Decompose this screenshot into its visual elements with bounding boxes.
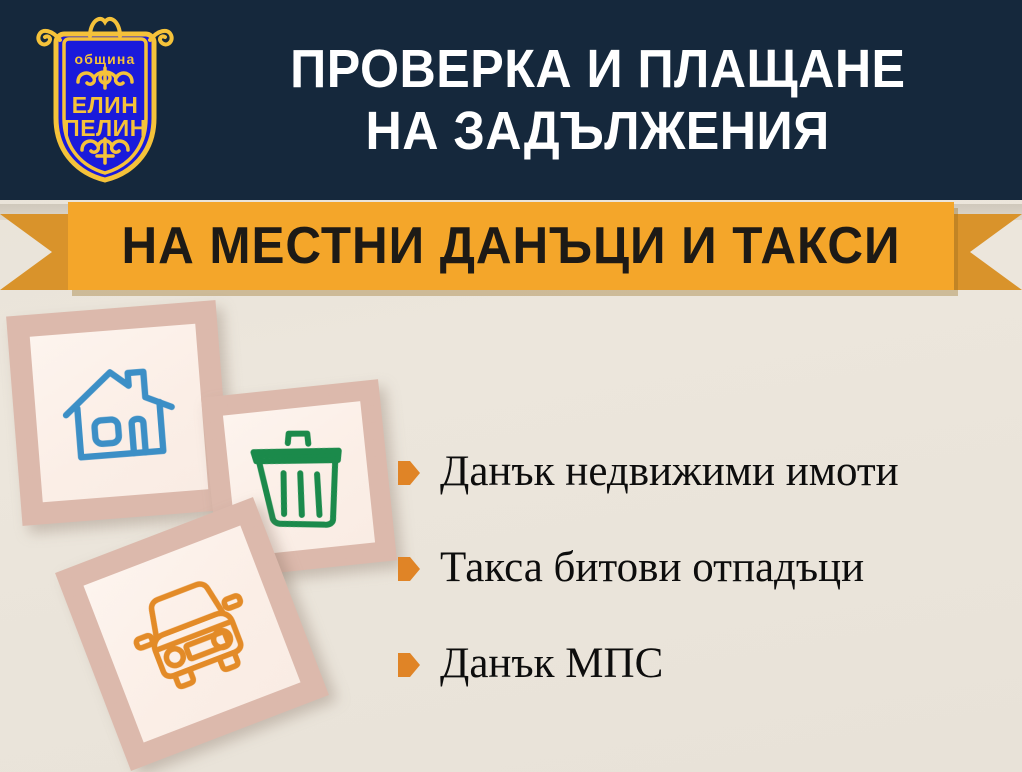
list-item[interactable]: Такса битови отпадъци — [398, 520, 1014, 616]
list-item-label: Данък МПС — [440, 640, 663, 688]
arrow-bullet-icon — [398, 461, 420, 485]
crest-svg: община ЕЛИН ПЕЛИН — [30, 8, 180, 188]
header-banner: община ЕЛИН ПЕЛИН ПРОВЕРКА И ПЛАЩАНЕ НА … — [0, 0, 1022, 200]
tax-types-list: Данък недвижими имоти Такса битови отпад… — [398, 424, 1014, 712]
arrow-bullet-icon — [398, 653, 420, 677]
stamp-collage — [0, 300, 430, 770]
subtitle-ribbon: НА МЕСТНИ ДАНЪЦИ И ТАКСИ — [0, 198, 1022, 306]
list-item[interactable]: Данък недвижими имоти — [398, 424, 1014, 520]
page-title-line-1: ПРОВЕРКА И ПЛАЩАНЕ — [290, 38, 905, 100]
ribbon-label: НА МЕСТНИ ДАНЪЦИ И ТАКСИ — [90, 202, 932, 290]
ribbon-body: НА МЕСТНИ ДАНЪЦИ И ТАКСИ — [68, 202, 954, 290]
svg-text:ПЕЛИН: ПЕЛИН — [63, 115, 147, 141]
house-icon — [30, 324, 209, 503]
list-item-label: Данък недвижими имоти — [440, 448, 899, 496]
poster-canvas: община ЕЛИН ПЕЛИН ПРОВЕРКА И ПЛАЩАНЕ НА … — [0, 0, 1022, 772]
page-title: ПРОВЕРКА И ПЛАЩАНЕ НА ЗАДЪЛЖЕНИЯ — [188, 16, 1008, 184]
stamp-paper — [30, 324, 209, 503]
svg-text:община: община — [74, 51, 135, 67]
page-title-line-2: НА ЗАДЪЛЖЕНИЯ — [366, 100, 830, 162]
arrow-bullet-icon — [398, 557, 420, 581]
list-item-label: Такса битови отпадъци — [440, 544, 864, 592]
coat-of-arms: община ЕЛИН ПЕЛИН — [30, 8, 180, 188]
list-item[interactable]: Данък МПС — [398, 616, 1014, 712]
stamp-real-estate — [6, 300, 232, 526]
